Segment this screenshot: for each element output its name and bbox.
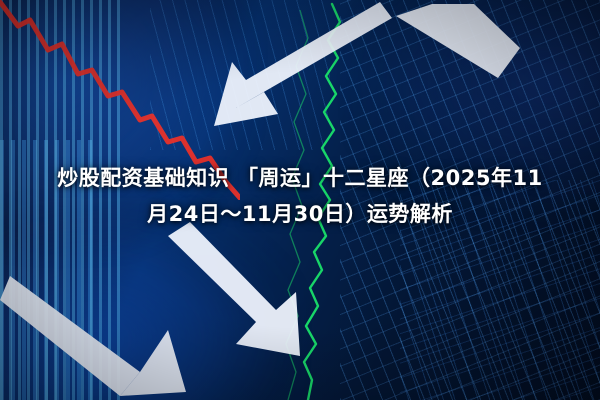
image-canvas: 炒股配资基础知识 「周运」十二星座（2025年11 月24日～11月30日）运势… <box>0 0 600 400</box>
headline-line-2: 月24日～11月30日）运势解析 <box>14 196 586 232</box>
headline-text: 炒股配资基础知识 「周运」十二星座（2025年11 月24日～11月30日）运势… <box>0 160 600 232</box>
headline-line-1: 炒股配资基础知识 「周运」十二星座（2025年11 <box>14 160 586 196</box>
top-middle-grid-texture <box>150 0 330 150</box>
